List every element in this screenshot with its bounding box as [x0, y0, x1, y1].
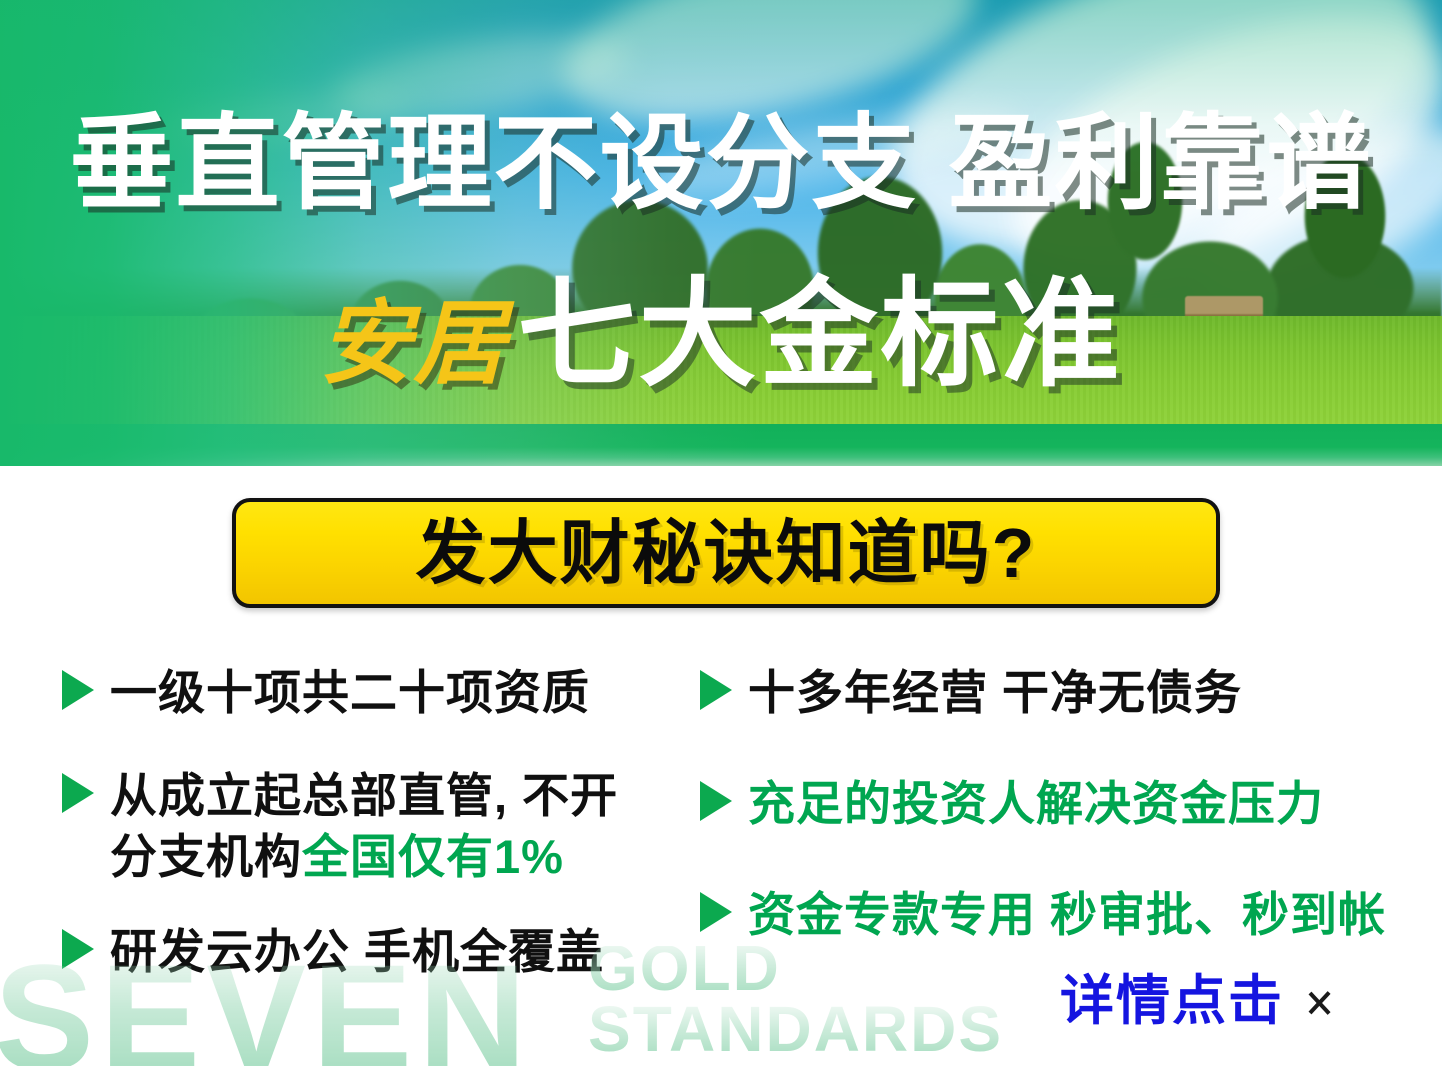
hero-headline-primary: 垂直管理不设分支 盈利靠谱 — [0, 112, 1442, 216]
feature-item: 资金专款专用 秒审批、秒到帐 — [700, 884, 1420, 945]
chevron-right-icon — [1308, 978, 1334, 1024]
promo-banner: 垂直管理不设分支 盈利靠谱 安居七大金标准 发大财秘诀知道吗? 一级十项共二十项… — [0, 0, 1442, 1066]
detail-link-label: 详情点击 — [1060, 974, 1284, 1028]
triangle-bullet-icon — [62, 929, 94, 969]
feature-column-right: 十多年经营 干净无债务 充足的投资人解决资金压力 资金专款专用 秒审批、秒到帐 — [700, 662, 1420, 981]
feature-item: 研发云办公 手机全覆盖 — [62, 921, 702, 982]
triangle-bullet-icon — [62, 670, 94, 710]
hero-headline-main: 七大金标准 — [518, 269, 1123, 401]
feature-item-label: 研发云办公 手机全覆盖 — [110, 921, 604, 982]
hero-section: 垂直管理不设分支 盈利靠谱 安居七大金标准 — [0, 0, 1442, 466]
hero-headline-secondary: 安居七大金标准 — [0, 276, 1442, 394]
triangle-bullet-icon — [700, 670, 732, 710]
feature-item-label: 从成立起总部直管, 不开分支机构全国仅有1% — [110, 765, 618, 887]
triangle-bullet-icon — [62, 773, 94, 813]
feature-item: 充足的投资人解决资金压力 — [700, 773, 1420, 834]
triangle-bullet-icon — [700, 781, 732, 821]
feature-line-2-plain: 分支机构 — [110, 830, 302, 883]
hero-brand-word: 安居 — [319, 289, 507, 397]
feature-item: 从成立起总部直管, 不开分支机构全国仅有1% — [62, 765, 702, 887]
headline-cta-band[interactable]: 发大财秘诀知道吗? — [232, 498, 1220, 608]
feature-item-label: 充足的投资人解决资金压力 — [748, 773, 1324, 834]
feature-list: 一级十项共二十项资质 从成立起总部直管, 不开分支机构全国仅有1% 研发云办公 … — [0, 662, 1442, 992]
feature-line-2-highlight: 全国仅有1% — [302, 830, 564, 883]
feature-item-label: 一级十项共二十项资质 — [110, 662, 590, 723]
feature-item-label: 十多年经营 干净无债务 — [748, 662, 1242, 723]
feature-item: 一级十项共二十项资质 — [62, 662, 702, 723]
headline-cta-label: 发大财秘诀知道吗? — [416, 518, 1037, 588]
feature-line-1: 从成立起总部直管, 不开 — [110, 769, 618, 822]
feature-column-left: 一级十项共二十项资质 从成立起总部直管, 不开分支机构全国仅有1% 研发云办公 … — [62, 662, 702, 1018]
feature-item: 十多年经营 干净无债务 — [700, 662, 1420, 723]
feature-item-label: 资金专款专用 秒审批、秒到帐 — [748, 884, 1386, 945]
detail-link[interactable]: 详情点击 — [1060, 974, 1334, 1028]
triangle-bullet-icon — [700, 892, 732, 932]
